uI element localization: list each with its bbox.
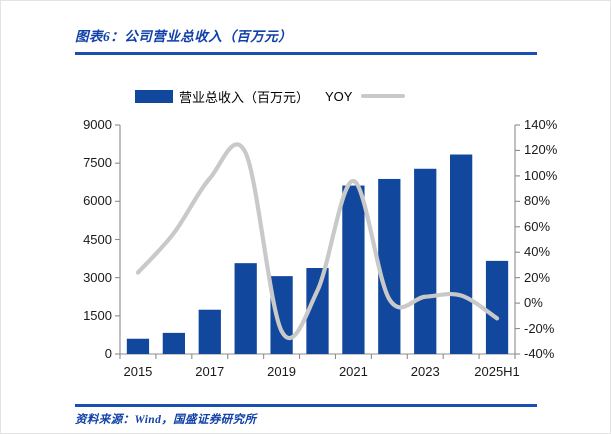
y-left-tick-label: 9000: [66, 117, 112, 132]
y-right-tick-label: 100%: [524, 168, 572, 183]
y-right-tick-label: 0%: [524, 295, 572, 310]
y-left-tick-label: 6000: [66, 193, 112, 208]
x-tick-label: 2023: [399, 364, 451, 379]
y-right-tick-label: -20%: [524, 321, 572, 336]
y-left-ticks: [115, 125, 120, 354]
page-title: 图表6：公司营业总收入（百万元）: [75, 29, 292, 44]
x-tick-label: 2017: [184, 364, 236, 379]
y-right-tick-label: 40%: [524, 244, 572, 259]
figure-source-row: 资料来源：Wind，国盛证券研究所: [75, 410, 545, 432]
x-tick-label: 2025H1: [471, 364, 523, 379]
title-divider: [75, 52, 537, 55]
y-left-tick-label: 3000: [66, 270, 112, 285]
y-left-tick-label: 0: [66, 346, 112, 361]
bar: [342, 186, 364, 354]
x-tick-label: 2015: [112, 364, 164, 379]
bar: [486, 261, 508, 354]
y-left-tick-label: 7500: [66, 155, 112, 170]
bar: [378, 179, 400, 354]
y-right-tick-label: 120%: [524, 142, 572, 157]
figure-card: 图表6：公司营业总收入（百万元） 营业总收入（百万元） YOY 01500300…: [0, 0, 611, 434]
y-left-tick-label: 4500: [66, 232, 112, 247]
bar-series: [127, 155, 508, 354]
bar: [450, 155, 472, 354]
source-text: 资料来源：Wind，国盛证券研究所: [75, 414, 256, 426]
y-left-tick-label: 1500: [66, 308, 112, 323]
y-right-tick-label: -40%: [524, 346, 572, 361]
source-divider: [75, 404, 537, 407]
bar: [199, 310, 221, 354]
plot-canvas: [75, 61, 537, 401]
bar: [127, 339, 149, 354]
x-ticks: [120, 354, 515, 359]
bar: [235, 263, 257, 354]
y-right-tick-label: 80%: [524, 193, 572, 208]
y-right-ticks: [515, 125, 520, 354]
bar: [414, 169, 436, 354]
chart-area: 营业总收入（百万元） YOY 0150030004500600075009000…: [75, 61, 537, 401]
y-right-tick-label: 140%: [524, 117, 572, 132]
x-tick-label: 2019: [256, 364, 308, 379]
y-right-tick-label: 20%: [524, 270, 572, 285]
y-right-tick-label: 60%: [524, 219, 572, 234]
figure-title-row: 图表6：公司营业总收入（百万元）: [75, 25, 545, 51]
bar: [270, 276, 292, 354]
x-tick-label: 2021: [327, 364, 379, 379]
bar: [163, 333, 185, 354]
